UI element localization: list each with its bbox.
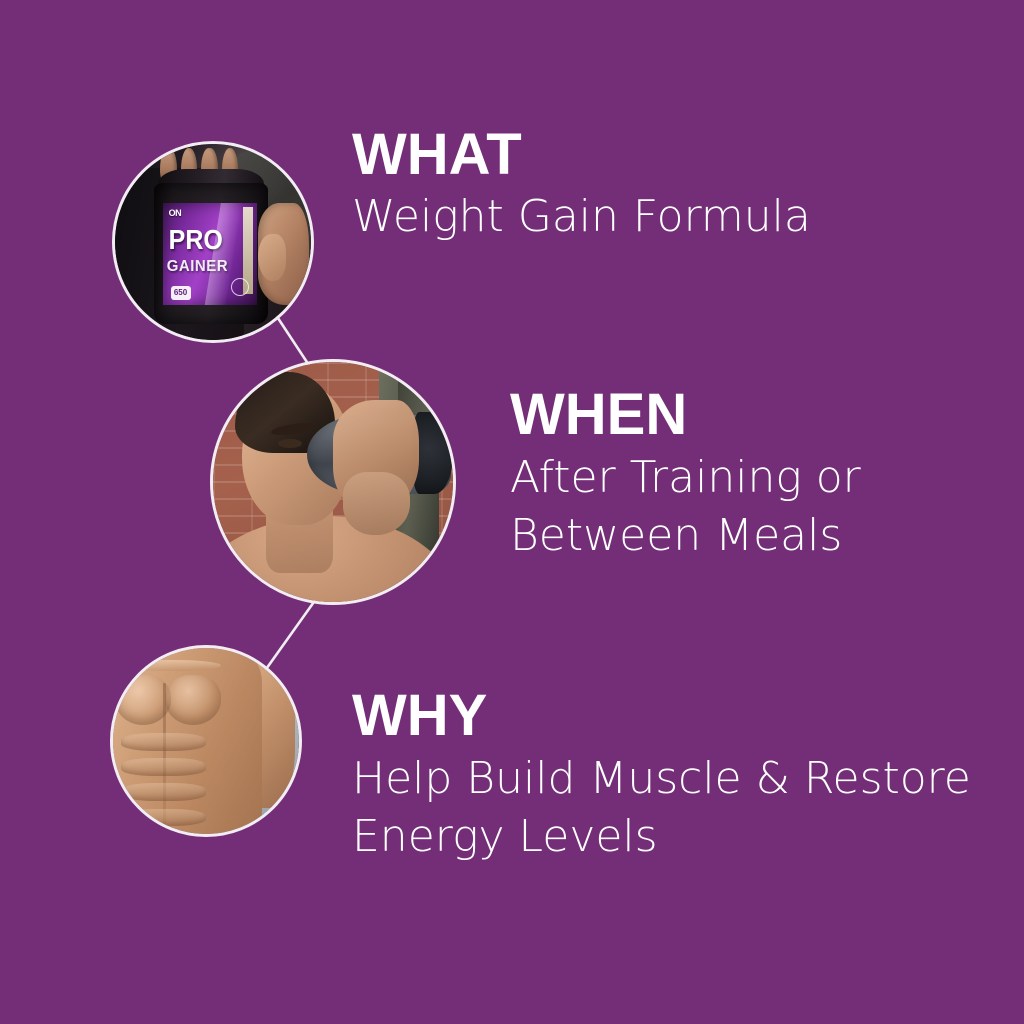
fingers-wrapping-bottle [343,472,410,534]
why-heading: WHY [352,687,971,745]
abdominal-row-3 [121,783,205,800]
why-image-circle[interactable] [110,645,302,837]
when-line-2: Between Meals [510,511,861,560]
when-line-1: After Training or [510,453,861,502]
drinking-shake-photo [213,362,453,602]
abdominal-midline [163,683,166,830]
thumb [258,234,285,281]
why-line-1: Help Build Muscle & Restore [352,754,971,803]
why-text-block: WHY Help Build Muscle & Restore Energy L… [352,687,971,862]
collarbone-line [121,660,221,672]
why-line-2: Energy Levels [352,812,971,861]
product-tub-photo: ON PRO GAINER 650 [115,144,311,340]
label-text-gainer: GAINER [167,257,228,275]
physique-photo [113,648,299,834]
when-text-block: WHEN After Training or Between Meals [510,386,861,561]
torso [113,648,262,834]
label-text-pro: PRO [169,228,223,253]
label-badge-650: 650 [171,286,191,300]
when-image-circle[interactable] [210,359,456,605]
when-heading: WHEN [510,386,861,444]
what-image-circle[interactable]: ON PRO GAINER 650 [112,141,314,343]
what-line-1: Weight Gain Formula [352,192,811,241]
abdominal-row-2 [121,758,205,775]
what-heading: WHAT [352,126,811,184]
abdominal-row-1 [121,733,205,750]
label-seal-icon [231,278,249,296]
abdominal-row-4 [121,809,205,826]
pectoral-right [165,675,221,725]
what-text-block: WHAT Weight Gain Formula [352,126,811,241]
tub-label: ON PRO GAINER 650 [163,203,257,305]
promo-infographic: ON PRO GAINER 650 [0,0,1024,1024]
brand-logo-on: ON [169,208,182,218]
